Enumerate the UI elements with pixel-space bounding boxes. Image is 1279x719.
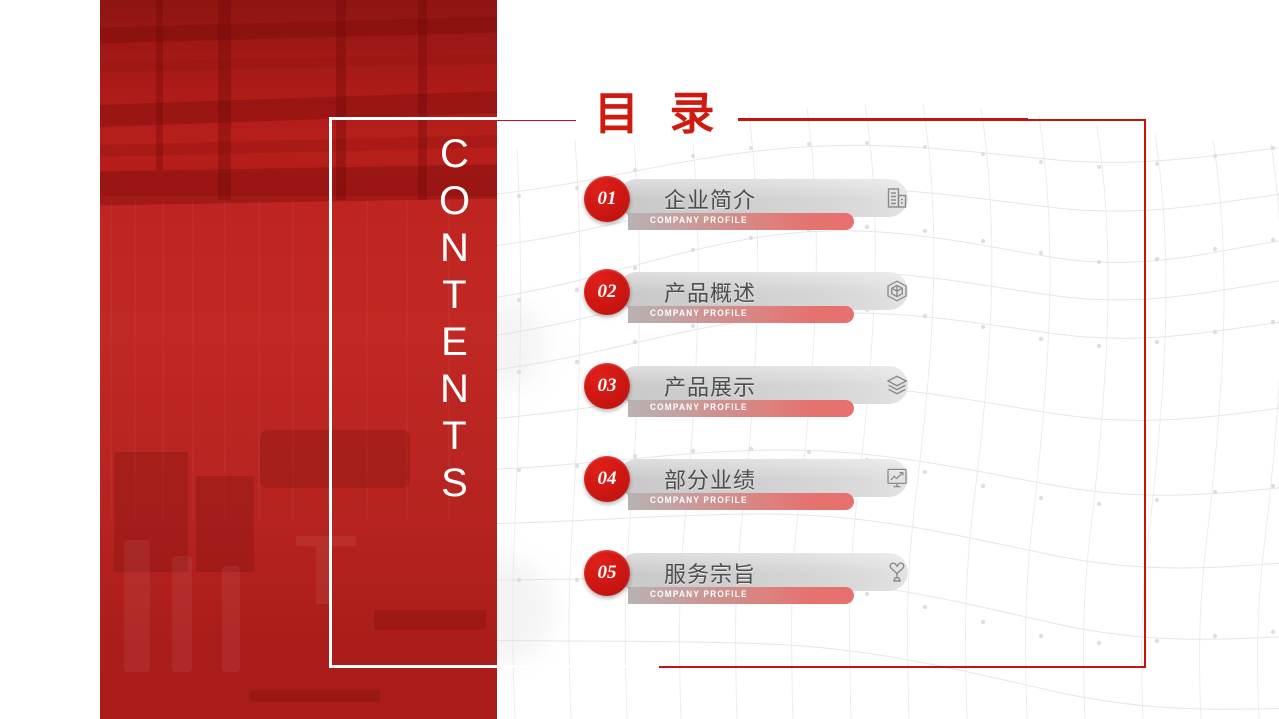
- agenda-item-05[interactable]: COMPANY PROFILE 服务宗旨 05: [584, 553, 924, 615]
- agenda-item-subtitle: COMPANY PROFILE: [650, 589, 748, 599]
- agenda-item-01[interactable]: COMPANY PROFILE 企业简介 01: [584, 179, 924, 241]
- agenda-item-number: 04: [598, 468, 617, 490]
- agenda-item-title: 企业简介: [664, 183, 756, 215]
- agenda-item-number: 03: [598, 375, 617, 397]
- agenda-item-number-badge: 01: [584, 176, 630, 222]
- agenda-item-pill: [618, 459, 908, 497]
- agenda-item-number-badge: 05: [584, 550, 630, 596]
- agenda-item-subtitle: COMPANY PROFILE: [650, 495, 748, 505]
- cube-hexagon-icon: [884, 278, 910, 304]
- layers-icon: [884, 372, 910, 398]
- agenda-item-subbar: COMPANY PROFILE: [628, 587, 854, 604]
- agenda-item-title: 部分业绩: [664, 463, 756, 495]
- agenda-item-subtitle: COMPANY PROFILE: [650, 308, 748, 318]
- agenda-item-subbar: COMPANY PROFILE: [628, 493, 854, 510]
- agenda-item-number-badge: 04: [584, 456, 630, 502]
- agenda-item-number: 05: [598, 562, 617, 584]
- agenda-item-number-badge: 03: [584, 363, 630, 409]
- building-icon: [884, 185, 910, 211]
- agenda-item-subbar: COMPANY PROFILE: [628, 213, 854, 230]
- presentation-chart-icon: [884, 465, 910, 491]
- agenda-item-pill: [618, 272, 908, 310]
- agenda-item-subbar: COMPANY PROFILE: [628, 306, 854, 323]
- agenda-item-subtitle: COMPANY PROFILE: [650, 215, 748, 225]
- agenda-item-pill: [618, 553, 908, 591]
- agenda-item-subbar: COMPANY PROFILE: [628, 400, 854, 417]
- agenda-item-pill: [618, 366, 908, 404]
- agenda-item-pill: [618, 179, 908, 217]
- agenda-item-number: 01: [598, 188, 617, 210]
- agenda-item-number-badge: 02: [584, 269, 630, 315]
- agenda-list: COMPANY PROFILE 企业简介 01 COMPANY PROFIL: [0, 0, 1279, 719]
- agenda-item-04[interactable]: COMPANY PROFILE 部分业绩 04: [584, 459, 924, 521]
- agenda-item-title: 产品展示: [664, 370, 756, 402]
- slide-root: CONTENTS 目 录 COMPANY PROFILE 企业简介 01: [0, 0, 1279, 719]
- agenda-item-subtitle: COMPANY PROFILE: [650, 402, 748, 412]
- agenda-item-number: 02: [598, 281, 617, 303]
- agenda-item-title: 产品概述: [664, 276, 756, 308]
- agenda-item-02[interactable]: COMPANY PROFILE 产品概述 02: [584, 272, 924, 334]
- agenda-item-03[interactable]: COMPANY PROFILE 产品展示 03: [584, 366, 924, 428]
- agenda-item-title: 服务宗旨: [664, 557, 756, 589]
- heart-stand-icon: [884, 559, 910, 585]
